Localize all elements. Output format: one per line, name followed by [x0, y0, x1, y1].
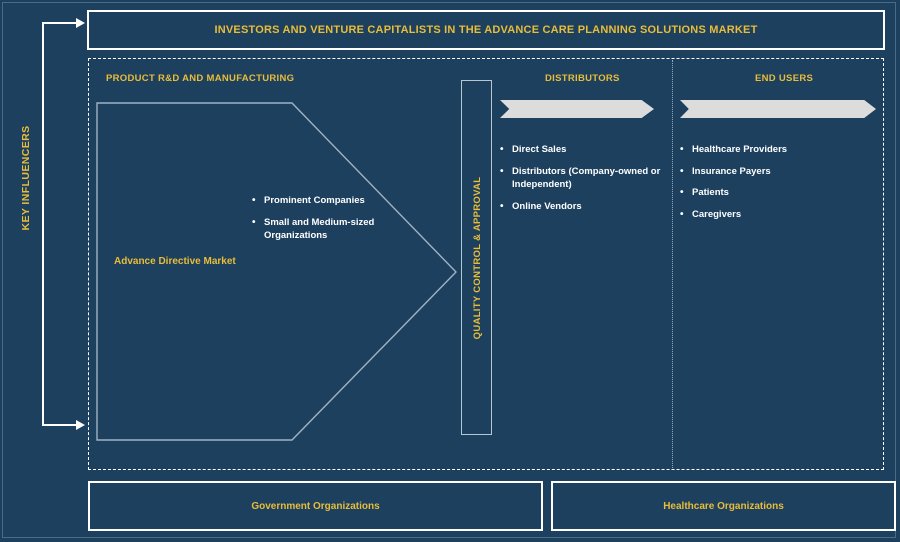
distributors-arrow-icon: [500, 100, 654, 118]
list-item: Insurance Payers: [680, 165, 860, 179]
list-item: Caregivers: [680, 208, 860, 222]
government-organizations-box: Government Organizations: [88, 481, 543, 531]
key-influencers-label: KEY INFLUENCERS: [15, 108, 37, 248]
healthcare-organizations-box: Healthcare Organizations: [551, 481, 896, 531]
list-item: Distributors (Company-owned or Independe…: [500, 165, 668, 192]
connector-horizontal-top: [42, 22, 78, 24]
product-rd-bullet-list: Prominent Companies Small and Medium-siz…: [252, 194, 427, 251]
list-item: Small and Medium-sized Organizations: [252, 216, 427, 243]
column-header-product-rd: PRODUCT R&D AND MANUFACTURING: [106, 73, 294, 84]
diagram-canvas: KEY INFLUENCERS INVESTORS AND VENTURE CA…: [0, 0, 900, 542]
arrow-head-bottom-icon: [76, 420, 85, 430]
column-header-distributors: DISTRIBUTORS: [545, 73, 620, 84]
page-title: INVESTORS AND VENTURE CAPITALISTS IN THE…: [214, 24, 757, 36]
list-item: Online Vendors: [500, 200, 668, 214]
end-users-arrow-icon: [680, 100, 876, 118]
quality-control-label: QUALITY CONTROL & APPROVAL: [467, 78, 487, 438]
column-header-end-users: END USERS: [755, 73, 813, 84]
healthcare-organizations-label: Healthcare Organizations: [663, 501, 784, 512]
arrow-head-top-icon: [76, 18, 85, 28]
list-item: Direct Sales: [500, 143, 668, 157]
column-divider: [672, 60, 673, 468]
title-bar: INVESTORS AND VENTURE CAPITALISTS IN THE…: [87, 10, 885, 50]
connector-horizontal-bottom: [42, 424, 78, 426]
distributors-bullet-list: Direct Sales Distributors (Company-owned…: [500, 143, 668, 221]
list-item: Patients: [680, 186, 860, 200]
list-item: Prominent Companies: [252, 194, 427, 208]
advance-directive-pentagon: [90, 95, 465, 450]
connector-vertical-line: [42, 22, 44, 425]
advance-directive-market-label: Advance Directive Market: [114, 256, 236, 267]
government-organizations-label: Government Organizations: [251, 501, 379, 512]
end-users-bullet-list: Healthcare Providers Insurance Payers Pa…: [680, 143, 860, 229]
quality-control-box: QUALITY CONTROL & APPROVAL: [461, 80, 492, 435]
list-item: Healthcare Providers: [680, 143, 860, 157]
